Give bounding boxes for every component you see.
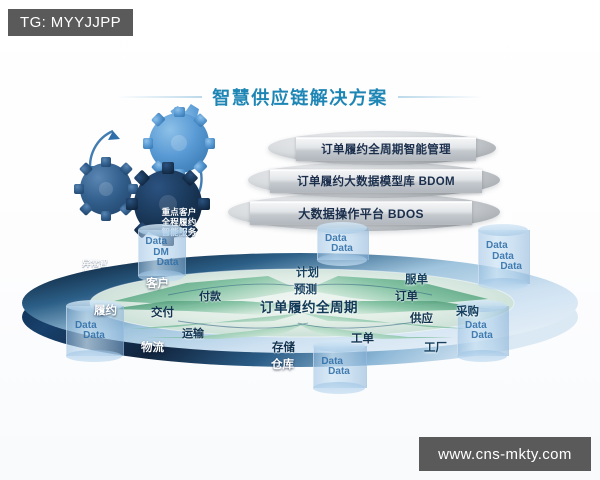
data-cylinder-bottom-middle: Data Data <box>313 340 365 394</box>
node-plan[interactable]: 计划 <box>296 264 319 280</box>
title-rule-right <box>398 96 484 98</box>
node-forecast[interactable]: 预测 <box>294 281 317 297</box>
data-cylinder-right: Data Data Data <box>478 224 528 290</box>
diagram-canvas: 智慧供应链解决方案 <box>0 0 600 480</box>
cyl-topmid-line2: Data <box>331 244 353 255</box>
node-work-order[interactable]: 工单 <box>351 330 374 346</box>
node-storage[interactable]: 存储 <box>272 339 295 355</box>
cyl-right-line3: Data <box>500 262 522 273</box>
node-supply[interactable]: 供应 <box>410 310 433 326</box>
cyl-rl-line2: Data <box>471 331 493 342</box>
node-factory[interactable]: 工厂 <box>424 339 447 355</box>
cylinder-right-text: Data Data Data <box>478 224 528 290</box>
node-transport[interactable]: 运输 <box>182 325 204 341</box>
node-customer[interactable]: 客户 <box>146 275 169 291</box>
node-fulfillment[interactable]: 履约 <box>94 302 117 318</box>
layer-bdom-label: 订单履约大数据模型库 BDOM <box>270 169 482 193</box>
node-purchase[interactable]: 采购 <box>456 303 479 319</box>
platform-center-label: 订单履约全周期 <box>260 296 358 316</box>
data-cylinder-left: Data DM Data <box>138 224 184 282</box>
anomaly-gear[interactable] <box>74 157 138 221</box>
cyl-lf-line2: Data <box>83 331 105 342</box>
node-service-order[interactable]: 服单 <box>405 271 428 287</box>
key-customer-gear[interactable] <box>143 104 215 179</box>
cyl-bm-line2: Data <box>328 367 350 378</box>
node-logistics[interactable]: 物流 <box>141 339 164 355</box>
node-delivery[interactable]: 交付 <box>151 304 174 320</box>
watermark-url: www.cns-mkty.com <box>419 437 591 471</box>
cyl-left-line3: Data <box>157 258 179 269</box>
cylinder-topmid-text: Data Data <box>317 222 367 266</box>
node-warehouse[interactable]: 仓库 <box>271 356 294 372</box>
layer-smart-management-label: 订单履约全周期智能管理 <box>296 137 476 161</box>
layer-bdom[interactable]: 订单履约大数据模型库 BDOM <box>248 162 500 198</box>
node-order[interactable]: 订单 <box>395 288 418 304</box>
data-cylinder-top-middle: Data Data <box>317 222 367 266</box>
cylinder-bottom-middle-text: Data Data <box>313 340 365 394</box>
layer-smart-management[interactable]: 订单履约全周期智能管理 <box>268 131 496 165</box>
cylinder-left-text: Data DM Data <box>138 224 184 282</box>
node-payment[interactable]: 付款 <box>199 288 221 304</box>
watermark-tag: TG: MYYJJPP <box>8 9 133 36</box>
